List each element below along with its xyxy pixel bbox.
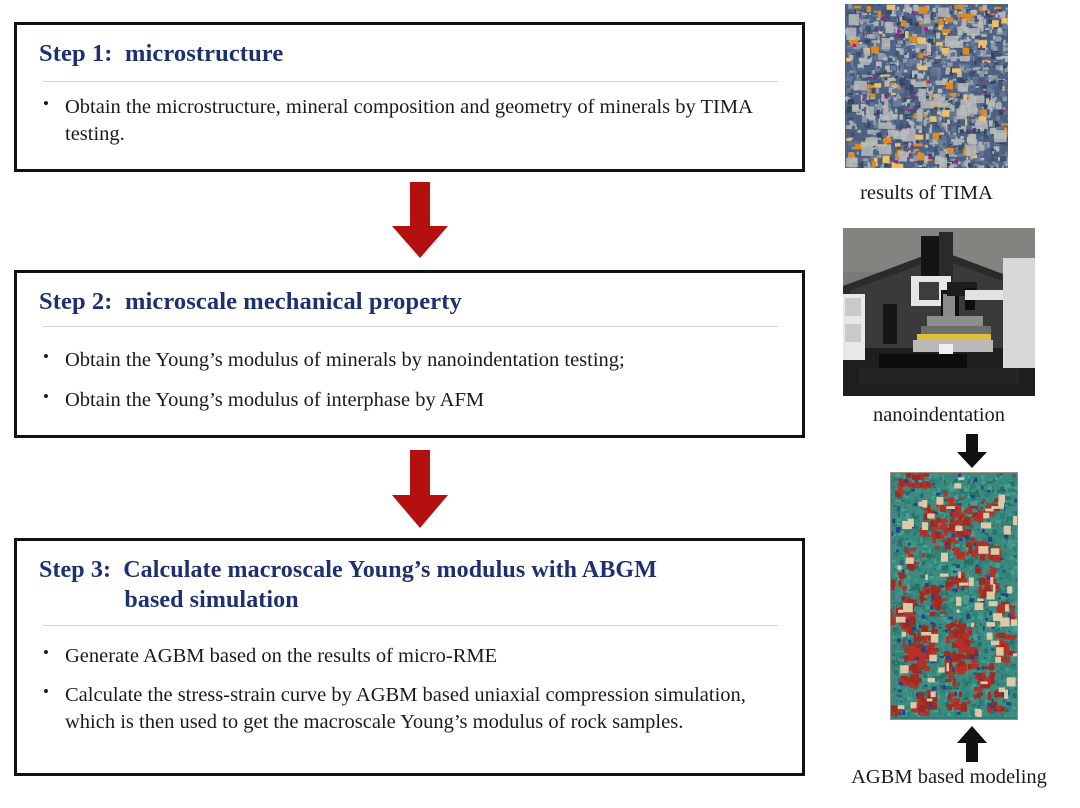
nanoindentation-photo bbox=[843, 228, 1035, 396]
list-item: Obtain the Young’s modulus of minerals b… bbox=[39, 347, 786, 374]
tima-micrograph-image bbox=[845, 4, 1008, 168]
agbm-model-image bbox=[890, 472, 1018, 720]
step-3-divider bbox=[43, 625, 778, 626]
step-3-bullet-list: Generate AGBM based on the results of mi… bbox=[33, 643, 786, 736]
list-item: Calculate the stress-strain curve by AGB… bbox=[39, 682, 786, 736]
arrow-step1-to-step2-icon bbox=[388, 182, 452, 258]
list-item: Generate AGBM based on the results of mi… bbox=[39, 643, 786, 670]
nanoindentation-caption: nanoindentation bbox=[836, 404, 1042, 427]
compression-arrow-bottom-icon bbox=[955, 726, 989, 762]
list-item: Obtain the microstructure, mineral compo… bbox=[39, 94, 786, 148]
step-2-bullet-list: Obtain the Young’s modulus of minerals b… bbox=[33, 347, 786, 414]
step-1-box: Step 1: microstructure Obtain the micros… bbox=[14, 22, 805, 172]
tima-caption: results of TIMA bbox=[845, 182, 1008, 205]
step-2-heading: Step 2: microscale mechanical property bbox=[39, 287, 786, 317]
step-2-box: Step 2: microscale mechanical property O… bbox=[14, 270, 805, 438]
step-3-box: Step 3: Calculate macroscale Young’s mod… bbox=[14, 538, 805, 776]
arrow-step2-to-step3-icon bbox=[388, 450, 452, 528]
compression-arrow-top-icon bbox=[955, 434, 989, 468]
agbm-caption: AGBM based modeling bbox=[824, 766, 1074, 789]
step-1-heading: Step 1: microstructure bbox=[39, 39, 786, 69]
list-item: Obtain the Young’s modulus of interphase… bbox=[39, 387, 786, 414]
step-3-heading: Step 3: Calculate macroscale Young’s mod… bbox=[39, 555, 786, 615]
step-2-divider bbox=[43, 326, 778, 327]
step-1-bullet-list: Obtain the microstructure, mineral compo… bbox=[33, 94, 786, 148]
step-1-divider bbox=[43, 81, 778, 82]
